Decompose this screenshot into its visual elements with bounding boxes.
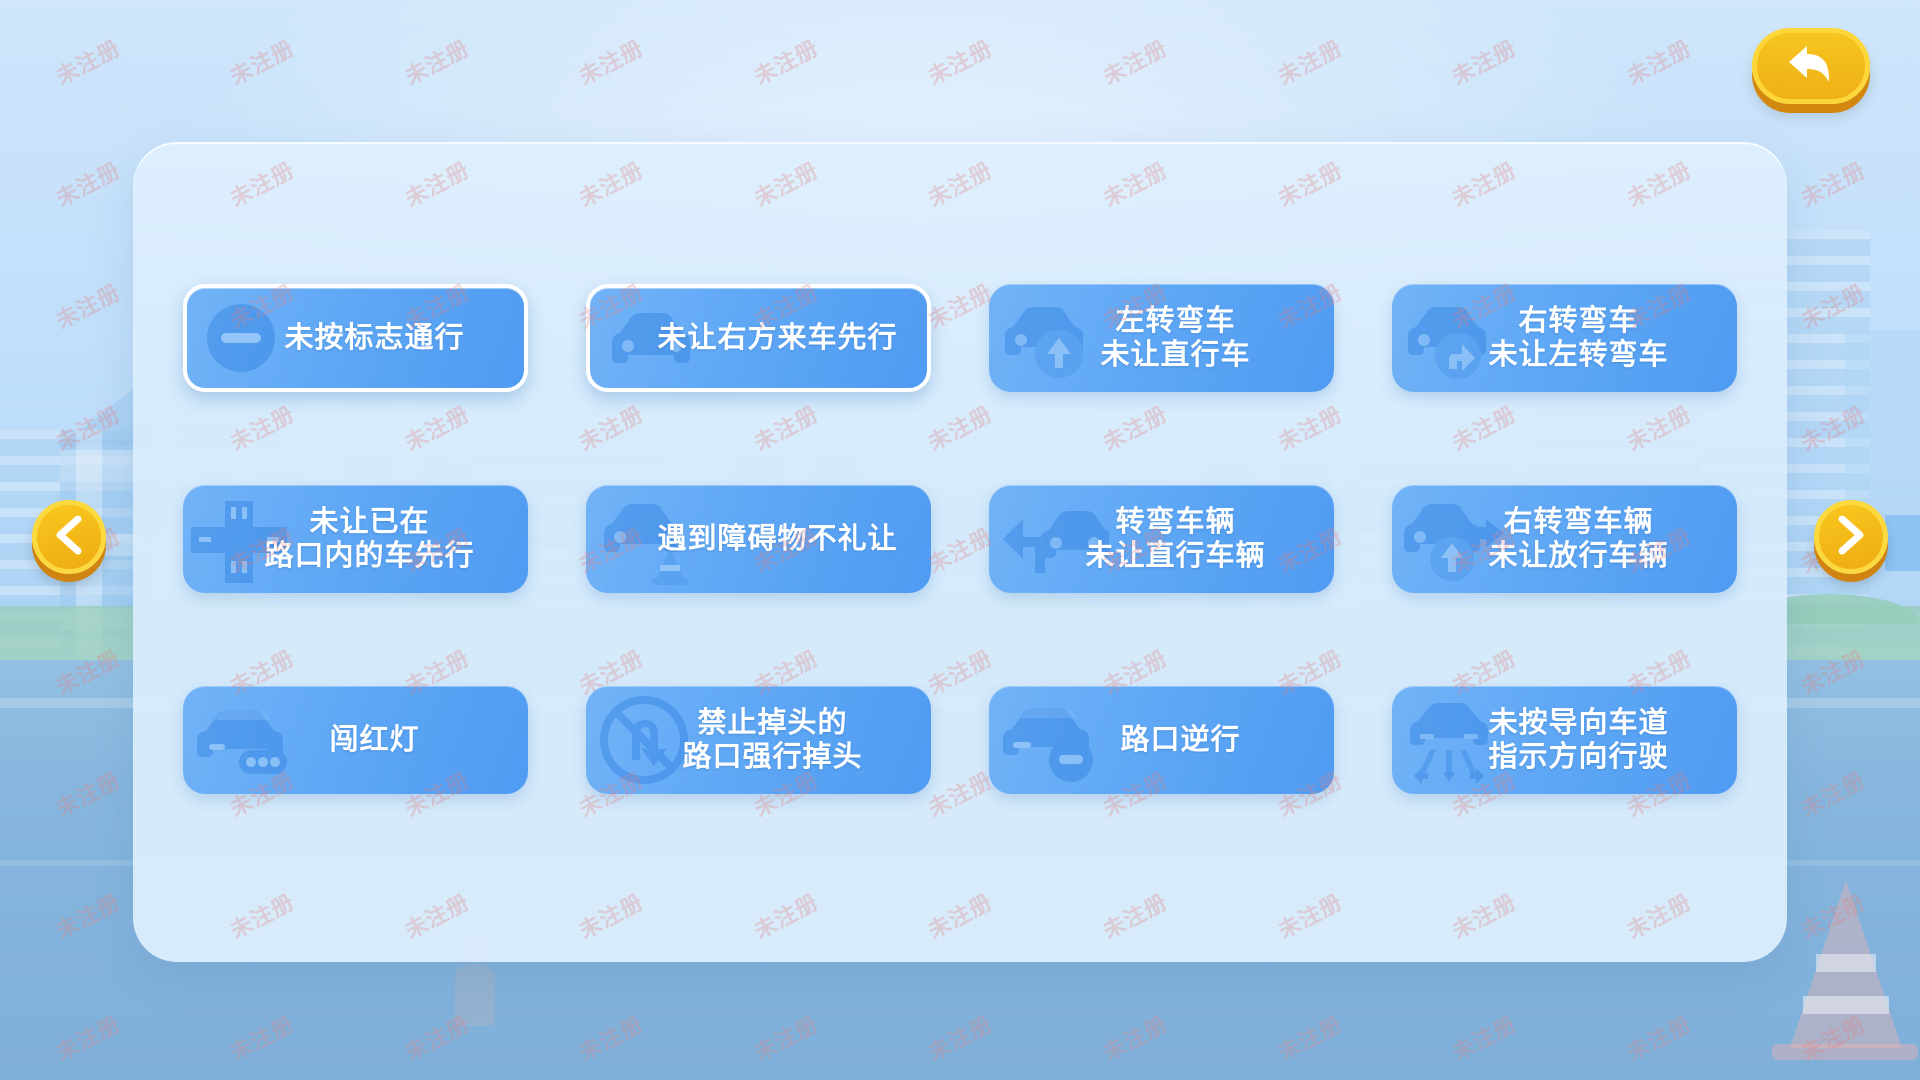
next-page-button[interactable]: [1814, 500, 1888, 574]
back-arrow-icon: [1787, 42, 1835, 91]
watermark-text: 未注册: [922, 31, 998, 92]
watermark-text: 未注册: [1271, 31, 1347, 92]
violation-item-label: 未按标志通行: [240, 321, 470, 355]
watermark-text: 未注册: [573, 31, 649, 92]
chevron-left-icon: [52, 515, 86, 560]
violation-item-label: 未让已在 路口内的车先行: [230, 505, 480, 573]
watermark-text: 未注册: [1795, 763, 1871, 824]
watermark-text: 未注册: [224, 1007, 300, 1068]
cone-stripe: [1816, 954, 1876, 972]
violation-item-4[interactable]: 右转弯车 未让左转弯车: [1392, 284, 1737, 392]
content-panel: 未按标志通行 未让右方来车先行 左转弯车 未让直行车: [133, 142, 1787, 962]
violation-item-label: 闯红灯: [285, 723, 425, 757]
violation-item-3[interactable]: 左转弯车 未让直行车: [989, 284, 1334, 392]
back-button[interactable]: [1752, 28, 1870, 104]
violation-item-label: 左转弯车 未让直行车: [1066, 304, 1256, 372]
watermark-text: 未注册: [922, 1007, 998, 1068]
violation-item-label: 禁止掉头的 路口强行掉头: [648, 706, 868, 774]
watermark-text: 未注册: [49, 31, 125, 92]
violation-item-12[interactable]: 未按导向车道 指示方向行驶: [1392, 686, 1737, 794]
violation-item-label: 右转弯车辆 未让放行车辆: [1454, 505, 1674, 573]
watermark-text: 未注册: [747, 1007, 823, 1068]
watermark-text: 未注册: [747, 31, 823, 92]
cone-stripe: [1803, 996, 1889, 1014]
watermark-text: 未注册: [1795, 275, 1871, 336]
background-building: [1845, 330, 1920, 662]
cone-body: [1790, 880, 1902, 1048]
watermark-text: 未注册: [1620, 31, 1696, 92]
violation-item-label: 未让右方来车先行: [613, 321, 903, 355]
violation-item-9[interactable]: 闯红灯: [183, 686, 528, 794]
prev-page-button[interactable]: [32, 500, 106, 574]
watermark-text: 未注册: [1795, 641, 1871, 702]
violation-item-label: 转弯车辆 未让直行车辆: [1051, 505, 1271, 573]
watermark-text: 未注册: [49, 275, 125, 336]
watermark-text: 未注册: [1446, 1007, 1522, 1068]
watermark-text: 未注册: [49, 763, 125, 824]
watermark-text: 未注册: [49, 153, 125, 214]
pedestrian-body: [455, 964, 495, 1026]
app-root: 未按标志通行 未让右方来车先行 左转弯车 未让直行车: [0, 0, 1920, 1080]
watermark-text: 未注册: [49, 641, 125, 702]
watermark-text: 未注册: [1795, 153, 1871, 214]
watermark-text: 未注册: [1795, 1007, 1871, 1068]
violation-item-label: 未按导向车道 指示方向行驶: [1454, 706, 1674, 774]
watermark-text: 未注册: [1795, 885, 1871, 946]
watermark-text: 未注册: [573, 1007, 649, 1068]
violation-item-1[interactable]: 未按标志通行: [183, 284, 528, 392]
watermark-text: 未注册: [1446, 31, 1522, 92]
violation-item-5[interactable]: 未让已在 路口内的车先行: [183, 485, 528, 593]
violation-item-label: 右转弯车 未让左转弯车: [1454, 304, 1674, 372]
violation-item-7[interactable]: 转弯车辆 未让直行车辆: [989, 485, 1334, 593]
violation-item-11[interactable]: 路口逆行: [989, 686, 1334, 794]
background-window-panel: [1885, 515, 1920, 571]
chevron-right-icon: [1834, 515, 1868, 560]
violation-grid: 未按标志通行 未让右方来车先行 左转弯车 未让直行车: [183, 284, 1737, 794]
watermark-text: 未注册: [1620, 1007, 1696, 1068]
watermark-text: 未注册: [1097, 1007, 1173, 1068]
violation-item-label: 路口逆行: [1076, 723, 1246, 757]
violation-item-10[interactable]: 禁止掉头的 路口强行掉头: [586, 686, 931, 794]
watermark-text: 未注册: [398, 1007, 474, 1068]
violation-item-label: 遇到障碍物不礼让: [613, 522, 903, 556]
watermark-text: 未注册: [398, 31, 474, 92]
watermark-text: 未注册: [49, 1007, 125, 1068]
violation-item-8[interactable]: 右转弯车辆 未让放行车辆: [1392, 485, 1737, 593]
watermark-text: 未注册: [1271, 1007, 1347, 1068]
violation-item-6[interactable]: 遇到障碍物不礼让: [586, 485, 931, 593]
violation-item-2[interactable]: 未让右方来车先行: [586, 284, 931, 392]
watermark-text: 未注册: [224, 31, 300, 92]
watermark-text: 未注册: [1795, 397, 1871, 458]
watermark-text: 未注册: [49, 397, 125, 458]
watermark-text: 未注册: [1097, 31, 1173, 92]
watermark-text: 未注册: [49, 885, 125, 946]
cone-base: [1772, 1044, 1918, 1060]
